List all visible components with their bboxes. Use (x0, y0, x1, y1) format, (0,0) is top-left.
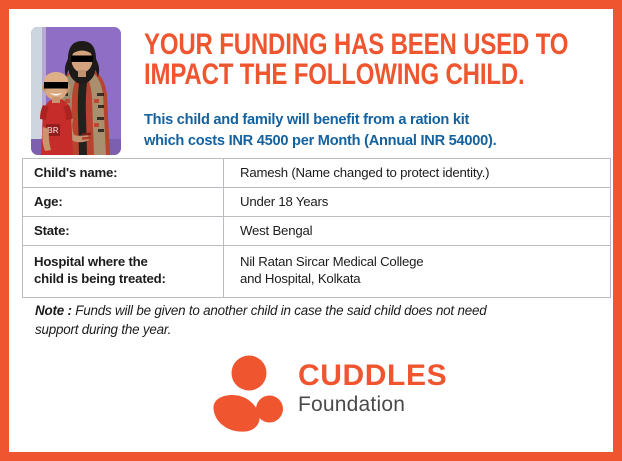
row-label: State: (23, 217, 224, 246)
row-label: Age: (23, 188, 224, 217)
photo-illustration: BR (31, 27, 121, 155)
row-label-line-1: Hospital where the (34, 254, 148, 269)
child-info-table: Child's name: Ramesh (Name changed to pr… (22, 158, 611, 298)
child-and-parent-photo: BR (31, 27, 121, 155)
row-value: West Bengal (224, 217, 611, 246)
row-label: Child's name: (23, 159, 224, 188)
logo-mark-icon (212, 354, 290, 432)
note-line-2: support during the year. (35, 320, 595, 339)
subtitle-line-2: which costs INR 4500 per Month (Annual I… (144, 131, 606, 152)
note-prefix: Note : (35, 303, 72, 318)
table-row: Hospital where the child is being treate… (23, 246, 611, 298)
table-row: Age: Under 18 Years (23, 188, 611, 217)
cuddles-parent-and-child-mark (212, 354, 290, 432)
headline-line-2: IMPACT THE FOLLOWING CHILD. (144, 60, 512, 90)
row-value: Under 18 Years (224, 188, 611, 217)
subtitle: This child and family will benefit from … (144, 110, 606, 152)
logo-wordmark: CUDDLES Foundation (298, 359, 448, 417)
headline-line-1: YOUR FUNDING HAS BEEN USED TO (144, 28, 568, 61)
cuddles-foundation-logo: CUDDLES Foundation (212, 354, 444, 432)
subtitle-line-1: This child and family will benefit from … (144, 112, 469, 128)
row-value: Nil Ratan Sircar Medical College and Hos… (224, 246, 611, 298)
logo-brand-name: CUDDLES (298, 359, 448, 392)
row-label-line-2: child is being treated: (34, 270, 223, 287)
row-value-line-2: and Hospital, Kolkata (240, 270, 610, 287)
row-value: Ramesh (Name changed to protect identity… (224, 159, 611, 188)
page-title: YOUR FUNDING HAS BEEN USED TO IMPACT THE… (144, 30, 512, 90)
note-text: Note : Funds will be given to another ch… (35, 301, 595, 339)
table-row: State: West Bengal (23, 217, 611, 246)
table-row: Child's name: Ramesh (Name changed to pr… (23, 159, 611, 188)
row-value-line-1: Nil Ratan Sircar Medical College (240, 254, 423, 269)
note-line-1: Funds will be given to another child in … (72, 303, 487, 318)
card-header: BR YOUR FUNDI (22, 18, 610, 155)
logo-brand-subtitle: Foundation (298, 392, 448, 417)
impact-card: BR YOUR FUNDI (0, 0, 622, 461)
row-label: Hospital where the child is being treate… (23, 246, 224, 298)
